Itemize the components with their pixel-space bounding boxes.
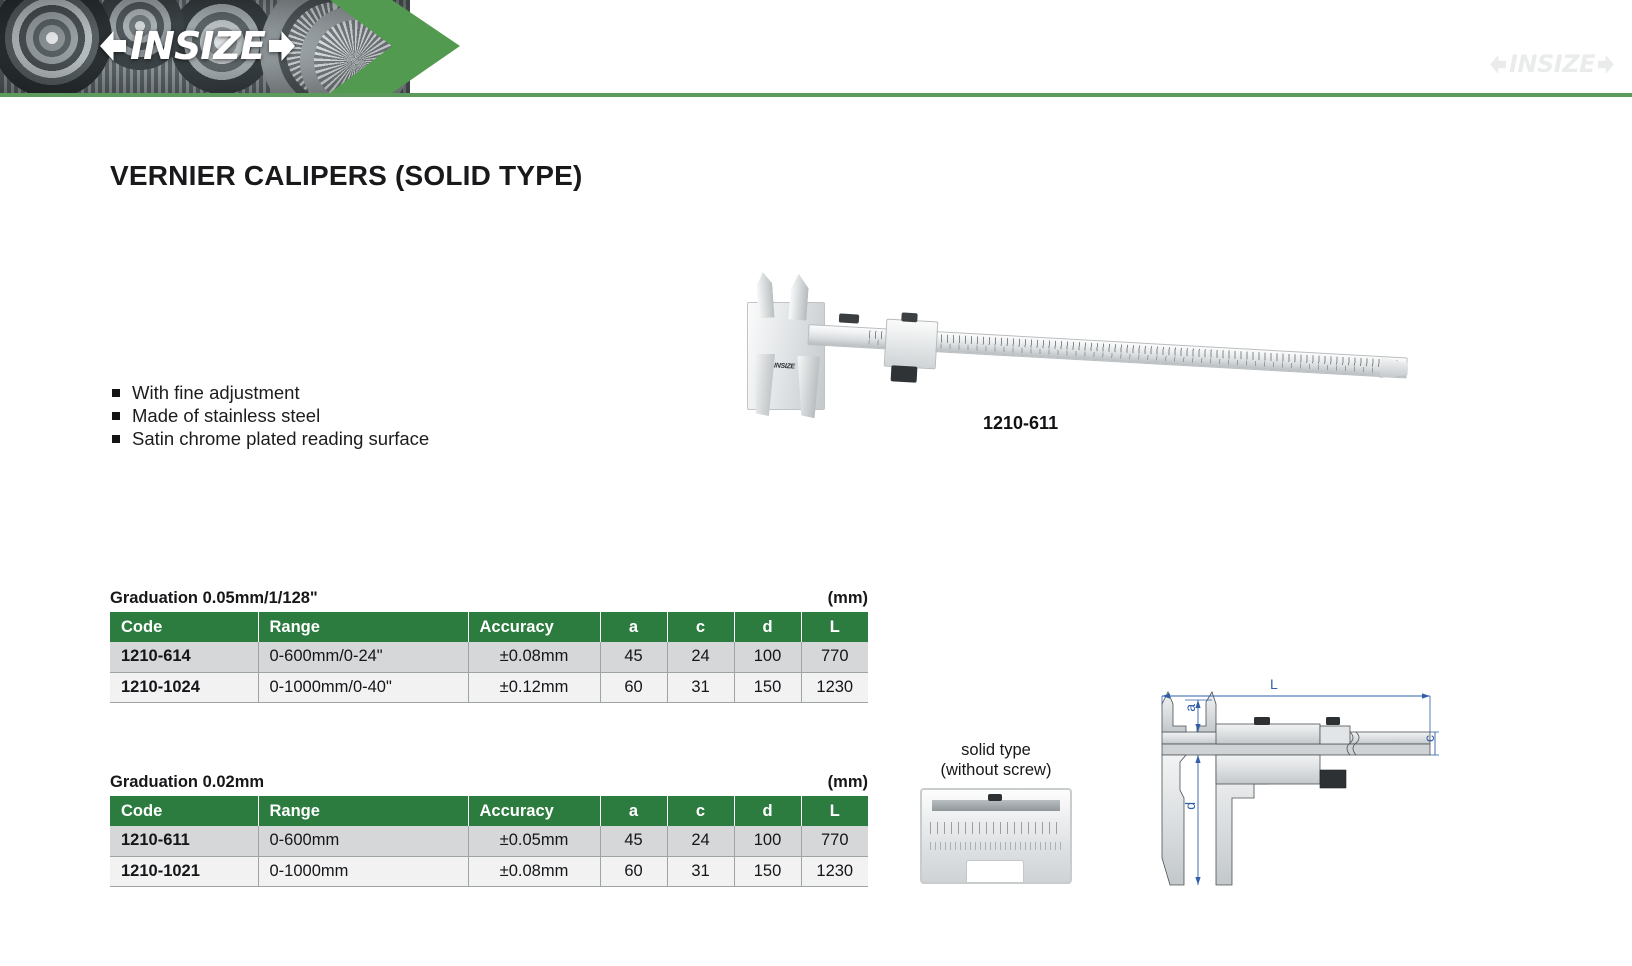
table-header-row: Code Range Accuracy a c d L	[110, 796, 868, 826]
product-photo-caliper: INSIZE	[735, 262, 1435, 432]
cell-code: 1210-1021	[110, 856, 258, 886]
table-row: 1210-1024 0-1000mm/0-40" ±0.12mm 60 31 1…	[110, 672, 868, 702]
cell-c: 31	[667, 856, 734, 886]
inset-main-scale	[930, 822, 1062, 834]
inset-closeup-photo	[920, 788, 1072, 884]
cell-range: 0-1000mm/0-40"	[258, 672, 468, 702]
caliper-upper-sliding-jaw	[788, 273, 809, 320]
cell-d: 100	[734, 826, 801, 856]
insize-logo: INSIZE	[100, 31, 295, 61]
column-header-accuracy: Accuracy	[468, 612, 600, 642]
cell-a: 45	[600, 826, 667, 856]
table-row: 1210-611 0-600mm ±0.05mm 45 24 100 770	[110, 826, 868, 856]
dimension-drawing-svg	[1140, 680, 1440, 895]
list-item: Made of stainless steel	[110, 404, 429, 427]
cell-range: 0-600mm	[258, 826, 468, 856]
caliper-clamp-screw	[901, 312, 917, 322]
solid-type-inset: solid type (without screw)	[920, 740, 1072, 888]
table: Code Range Accuracy a c d L 1210-614 0-6…	[110, 612, 868, 703]
product-code-caption: 1210-611	[983, 413, 1058, 434]
cell-d: 100	[734, 642, 801, 672]
table-unit: (mm)	[828, 589, 868, 608]
column-header-range: Range	[258, 796, 468, 826]
cell-l: 770	[801, 826, 868, 856]
dimension-label-l: L	[1270, 676, 1278, 692]
cell-l: 1230	[801, 672, 868, 702]
table-unit: (mm)	[828, 773, 868, 792]
cell-accuracy: ±0.05mm	[468, 826, 600, 856]
cell-a: 60	[600, 672, 667, 702]
column-header-code: Code	[110, 612, 258, 642]
cell-range: 0-600mm/0-24"	[258, 642, 468, 672]
table-header-row: Code Range Accuracy a c d L	[110, 612, 868, 642]
caliper-upper-fixed-jaw	[755, 271, 774, 318]
column-header-c: c	[667, 796, 734, 826]
list-item: With fine adjustment	[110, 381, 429, 404]
column-header-d: d	[734, 796, 801, 826]
cell-accuracy: ±0.12mm	[468, 672, 600, 702]
feature-text: Made of stainless steel	[132, 405, 320, 426]
page-title: VERNIER CALIPERS (SOLID TYPE)	[110, 160, 583, 192]
dimension-label-a: a	[1182, 704, 1198, 712]
page-header: INSIZE INSIZE	[0, 0, 1632, 97]
column-header-a: a	[600, 796, 667, 826]
table: Code Range Accuracy a c d L 1210-611 0-6…	[110, 796, 868, 887]
header-divider	[0, 93, 1632, 97]
column-header-c: c	[667, 612, 734, 642]
logo-left-arrow-icon	[100, 31, 126, 61]
cell-accuracy: ±0.08mm	[468, 642, 600, 672]
dimension-drawing: L a d c	[1140, 680, 1440, 895]
logo-right-arrow-icon	[269, 31, 295, 61]
cell-range: 0-1000mm	[258, 856, 468, 886]
caliper-slider-block	[884, 319, 939, 370]
column-header-a: a	[600, 612, 667, 642]
cell-a: 45	[600, 642, 667, 672]
spec-table-graduation-005: Graduation 0.05mm/1/128" (mm) Code Range…	[110, 589, 868, 703]
logo-text: INSIZE	[130, 31, 265, 61]
cell-a: 60	[600, 856, 667, 886]
square-bullet-icon	[112, 435, 120, 443]
table-row: 1210-614 0-600mm/0-24" ±0.08mm 45 24 100…	[110, 642, 868, 672]
cell-c: 31	[667, 672, 734, 702]
cell-code: 1210-614	[110, 642, 258, 672]
cell-c: 24	[667, 642, 734, 672]
list-item: Satin chrome plated reading surface	[110, 427, 429, 450]
inset-caption: solid type (without screw)	[910, 740, 1082, 780]
cell-l: 770	[801, 642, 868, 672]
watermark-right-arrow-icon	[1598, 55, 1614, 74]
feature-text: Satin chrome plated reading surface	[132, 428, 429, 449]
feature-list: With fine adjustment Made of stainless s…	[110, 381, 429, 450]
inset-vernier-scale	[930, 842, 1062, 850]
watermark-text: INSIZE	[1509, 55, 1595, 74]
column-header-l: L	[801, 612, 868, 642]
inset-slider-window	[966, 860, 1024, 884]
table-caption: Graduation 0.02mm	[110, 773, 264, 792]
dimension-label-c: c	[1421, 735, 1437, 742]
spec-table-graduation-002: Graduation 0.02mm (mm) Code Range Accura…	[110, 773, 868, 887]
inset-beam	[932, 800, 1060, 811]
watermark-left-arrow-icon	[1490, 55, 1506, 74]
column-header-d: d	[734, 612, 801, 642]
column-header-range: Range	[258, 612, 468, 642]
insize-watermark: INSIZE	[1490, 55, 1614, 74]
column-header-l: L	[801, 796, 868, 826]
cell-l: 1230	[801, 856, 868, 886]
cell-code: 1210-611	[110, 826, 258, 856]
cell-d: 150	[734, 672, 801, 702]
column-header-accuracy: Accuracy	[468, 796, 600, 826]
column-header-code: Code	[110, 796, 258, 826]
square-bullet-icon	[112, 389, 120, 397]
square-bullet-icon	[112, 412, 120, 420]
feature-text: With fine adjustment	[132, 382, 300, 403]
table-row: 1210-1021 0-1000mm ±0.08mm 60 31 150 123…	[110, 856, 868, 886]
inset-caption-line1: solid type	[910, 740, 1082, 760]
inset-caption-line2: (without screw)	[910, 760, 1082, 780]
cell-code: 1210-1024	[110, 672, 258, 702]
inset-screw-icon	[988, 794, 1002, 801]
cell-d: 150	[734, 856, 801, 886]
caliper-beam-tip	[1379, 357, 1408, 380]
caliper-brand-mark: INSIZE	[774, 362, 795, 370]
table-caption: Graduation 0.05mm/1/128"	[110, 589, 318, 608]
caliper-fine-adjust-screw	[839, 313, 859, 323]
caliper-main-graduations	[869, 330, 1401, 368]
caliper-lock-screw	[891, 365, 918, 382]
cell-accuracy: ±0.08mm	[468, 856, 600, 886]
dimension-label-d: d	[1182, 802, 1198, 810]
cell-c: 24	[667, 826, 734, 856]
